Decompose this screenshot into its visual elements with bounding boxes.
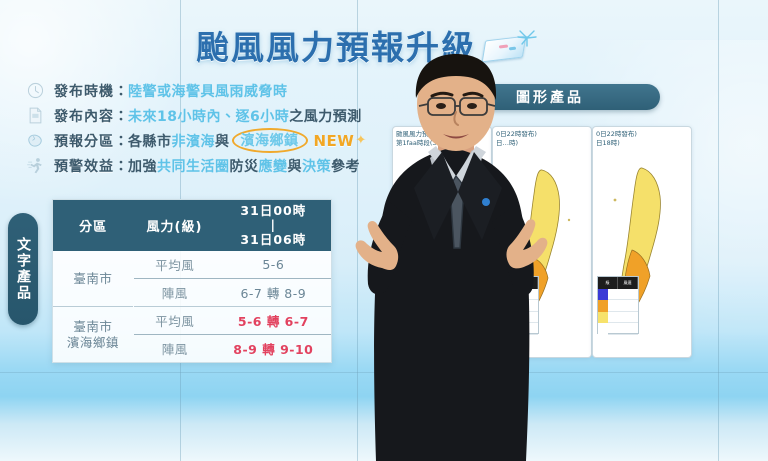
bullet-text: 、 [221,106,236,126]
clock-icon [22,80,48,102]
bullet-text: 陸警或海警具風雨威脅時 [128,81,288,101]
document-icon [22,105,48,127]
region-map-icon [22,130,48,152]
text-product-side-tab: 文字產品 [8,213,38,325]
wall-seam-3 [718,0,719,461]
wind-value: 5-6 [216,251,331,279]
bullet-text: 非濱海 [172,131,216,151]
header-time-separator: | [218,218,329,232]
header-time-end: 31日06時 [218,233,329,247]
bullet-text: 應變 [259,156,288,176]
wind-value: 8-9 轉 9-10 [216,335,331,363]
header-zone: 分區 [53,200,133,251]
bullet-label: 預報分區 [54,131,114,151]
forecast-map-card: 0日22時發布) 日18時) 級 風速 [592,126,692,358]
header-wind-level: 風力(級) [133,200,215,251]
legend-value-rows [608,289,638,335]
bullet-colon: ： [114,81,128,101]
wind-kind: 陣風 [133,335,215,363]
presenter-figure [330,52,570,461]
map-body: 級 風速 [593,150,691,340]
map-header-line2: 日18時) [596,139,689,148]
bullet-text: 防災 [230,156,259,176]
running-person-icon [22,155,48,177]
legend-color-scale [598,289,608,335]
map-header-line1: 0日22時發布) [596,130,689,139]
map-legend: 級 風速 [597,276,639,334]
wind-kind: 平均風 [133,251,215,279]
bullet-colon: ： [114,156,128,176]
bullet-highlight-oval: 濱海鄉鎮 [232,128,308,153]
bullet-text: 與 [288,156,303,176]
wind-value: 6-7 轉 8-9 [216,279,331,307]
bullet-text: 逐6小時 [235,106,289,126]
broadcast-screen: 颱風風力預報升級 發布時機 ： 陸警或海警具 [0,0,768,461]
wind-kind: 陣風 [133,279,215,307]
table-row: 臺南市 平均風 5-6 [53,251,331,279]
zone-name-coastal: 臺南市 濱海鄉鎮 [53,307,133,363]
bullet-label: 發布時機 [54,81,114,101]
legend-header-speed: 風速 [618,277,638,289]
bullet-text: 未來18小時內 [128,106,221,126]
bullet-text: 共同生活圈 [157,156,230,176]
bullet-text: 各縣市 [128,131,172,151]
wind-forecast-table-card: 分區 風力(級) 31日00時 | 31日06時 臺南市 平均風 5-6 [52,199,332,363]
splash-icon [516,28,538,48]
zone-name: 臺南市 [53,251,133,307]
bullet-text: 決策 [302,156,331,176]
table-header-row: 分區 風力(級) 31日00時 | 31日06時 [53,200,331,251]
wind-value: 5-6 轉 6-7 [216,307,331,335]
header-time-start: 31日00時 [218,204,329,218]
wind-kind: 平均風 [133,307,215,335]
bullet-colon: ： [114,106,128,126]
bullet-text: 與 [215,131,230,151]
bullet-label: 發布內容 [54,106,114,126]
bullet-label: 預警效益 [54,156,114,176]
side-tab-label: 文字產品 [13,237,33,301]
wind-forecast-table: 分區 風力(級) 31日00時 | 31日06時 臺南市 平均風 5-6 [53,200,331,362]
bullet-colon: ： [114,131,128,151]
table-row: 臺南市 濱海鄉鎮 平均風 5-6 轉 6-7 [53,307,331,335]
bullet-text: 加強 [128,156,157,176]
header-time-range: 31日00時 | 31日06時 [216,200,331,251]
legend-header-level: 級 [598,277,618,289]
